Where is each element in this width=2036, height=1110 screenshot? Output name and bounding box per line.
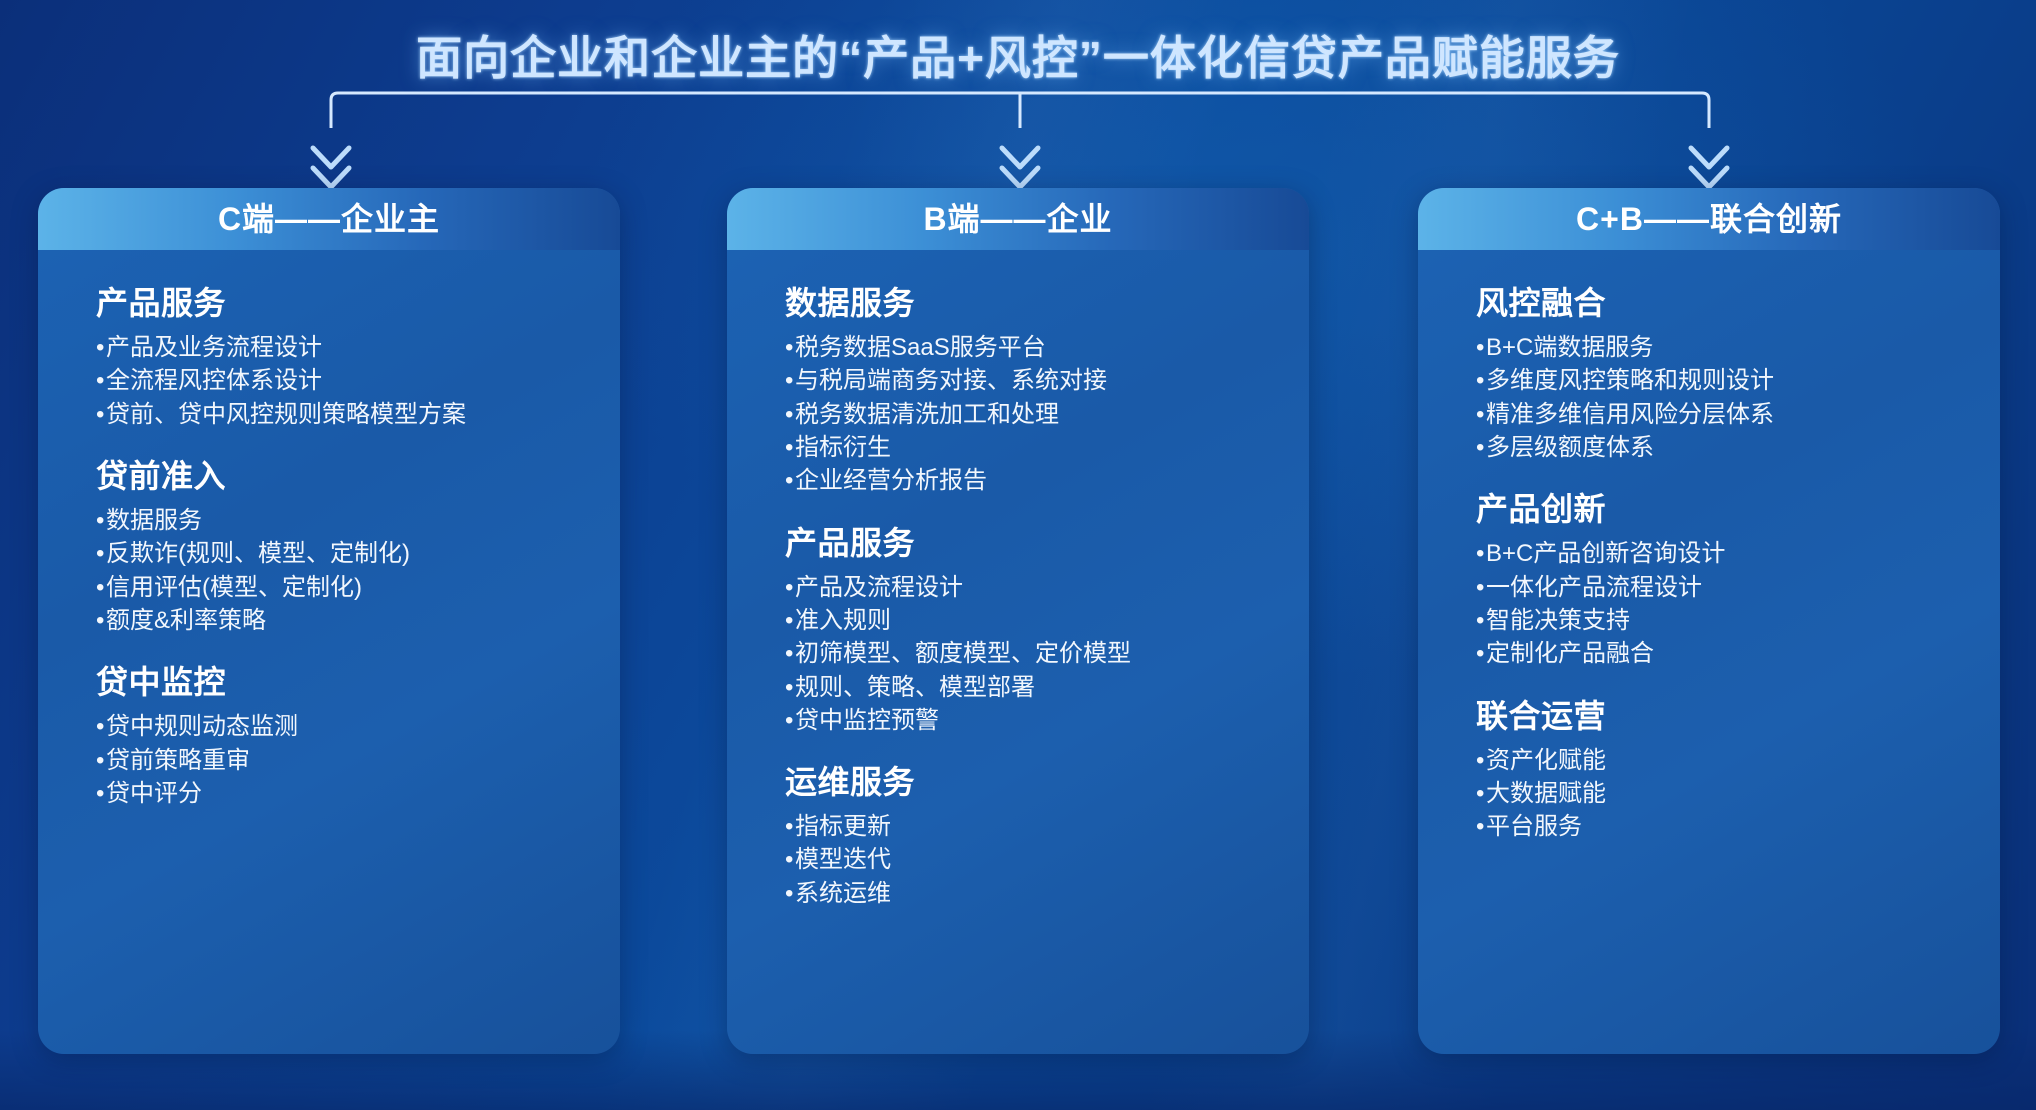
slide-canvas: 面向企业和企业主的“产品+风控”一体化信贷产品赋能服务 C端——企业主 (0, 0, 2036, 1110)
group-title: 贷中监控 (96, 657, 620, 703)
column-card-c-end[interactable]: C端——企业主 产品服务 •产品及业务流程设计 •全流程风控体系设计 •贷前、贷… (38, 188, 620, 1054)
list-item-label: 贷前、贷中风控规则策略模型方案 (106, 401, 466, 428)
list-item: •多维度风控策略和规则设计 (1476, 367, 2000, 395)
list-item: •B+C产品创新咨询设计 (1476, 540, 2000, 568)
list-item-label: 系统运维 (795, 880, 891, 907)
column-body-c-end: 产品服务 •产品及业务流程设计 •全流程风控体系设计 •贷前、贷中风控规则策略模… (38, 250, 620, 808)
group-title: 贷前准入 (96, 451, 620, 497)
group-block: 产品服务 •产品及流程设计 •准入规则 •初筛模型、额度模型、定价模型 •规则、… (785, 518, 1309, 736)
bullet-dot: • (785, 607, 795, 635)
list-item-label: 一体化产品流程设计 (1486, 574, 1702, 601)
group-title: 产品创新 (1476, 484, 2000, 530)
list-item: •税务数据SaaS服务平台 (785, 334, 1309, 362)
list-item-label: 税务数据清洗加工和处理 (795, 401, 1059, 428)
bullet-dot: • (1476, 367, 1486, 395)
bullet-dot: • (96, 334, 106, 362)
list-item-label: 信用评估(模型、定制化) (106, 574, 362, 601)
list-item: •系统运维 (785, 880, 1309, 908)
list-item-label: 定制化产品融合 (1486, 640, 1654, 667)
bullet-dot: • (96, 367, 106, 395)
list-item-label: 指标衍生 (795, 434, 891, 461)
columns-container: C端——企业主 产品服务 •产品及业务流程设计 •全流程风控体系设计 •贷前、贷… (0, 188, 2036, 1068)
bullet-dot: • (1476, 607, 1486, 635)
list-item: •贷前、贷中风控规则策略模型方案 (96, 401, 620, 429)
group-block: 贷中监控 •贷中规则动态监测 •贷前策略重审 •贷中评分 (96, 657, 620, 808)
bullet-dot: • (96, 747, 106, 775)
bullet-dot: • (785, 813, 795, 841)
list-item: •税务数据清洗加工和处理 (785, 401, 1309, 429)
list-item-label: 模型迭代 (795, 846, 891, 873)
list-item-label: 全流程风控体系设计 (106, 367, 322, 394)
group-title: 产品服务 (785, 518, 1309, 564)
bullet-dot: • (96, 607, 106, 635)
list-item-label: 贷前策略重审 (106, 747, 250, 774)
bullet-dot: • (785, 640, 795, 668)
group-block: 运维服务 •指标更新 •模型迭代 •系统运维 (785, 757, 1309, 908)
bullet-dot: • (96, 507, 106, 535)
list-item-label: 与税局端商务对接、系统对接 (795, 367, 1107, 394)
list-item-label: 初筛模型、额度模型、定价模型 (795, 640, 1131, 667)
column-body-b-end: 数据服务 •税务数据SaaS服务平台 •与税局端商务对接、系统对接 •税务数据清… (727, 250, 1309, 908)
column-header-c-end: C端——企业主 (38, 188, 620, 250)
bullet-dot: • (1476, 640, 1486, 668)
bullet-dot: • (785, 846, 795, 874)
list-item-label: 大数据赋能 (1486, 780, 1606, 807)
bullet-list: •指标更新 •模型迭代 •系统运维 (785, 813, 1309, 908)
group-title: 运维服务 (785, 757, 1309, 803)
bullet-list: •B+C端数据服务 •多维度风控策略和规则设计 •精准多维信用风险分层体系 •多… (1476, 334, 2000, 462)
bullet-dot: • (96, 780, 106, 808)
column-body-c-plus-b: 风控融合 •B+C端数据服务 •多维度风控策略和规则设计 •精准多维信用风险分层… (1418, 250, 2000, 841)
column-header-c-plus-b: C+B——联合创新 (1418, 188, 2000, 250)
list-item: •一体化产品流程设计 (1476, 574, 2000, 602)
bullet-list: •税务数据SaaS服务平台 •与税局端商务对接、系统对接 •税务数据清洗加工和处… (785, 334, 1309, 496)
list-item: •贷前策略重审 (96, 747, 620, 775)
list-item: •模型迭代 (785, 846, 1309, 874)
page-title: 面向企业和企业主的“产品+风控”一体化信贷产品赋能服务 (0, 22, 2036, 88)
list-item: •准入规则 (785, 607, 1309, 635)
list-item-label: 产品及业务流程设计 (106, 334, 322, 361)
list-item-label: 贷中监控预警 (795, 707, 939, 734)
list-item: •与税局端商务对接、系统对接 (785, 367, 1309, 395)
bullet-dot: • (785, 467, 795, 495)
bullet-dot: • (1476, 747, 1486, 775)
double-chevron-down-icon (313, 148, 349, 187)
bullet-dot: • (1476, 540, 1486, 568)
bullet-dot: • (96, 574, 106, 602)
list-item: •数据服务 (96, 507, 620, 535)
list-item-label: B+C产品创新咨询设计 (1486, 540, 1725, 567)
list-item: •反欺诈(规则、模型、定制化) (96, 540, 620, 568)
group-block: 风控融合 •B+C端数据服务 •多维度风控策略和规则设计 •精准多维信用风险分层… (1476, 278, 2000, 462)
list-item-label: 反欺诈(规则、模型、定制化) (106, 540, 410, 567)
column-card-c-plus-b[interactable]: C+B——联合创新 风控融合 •B+C端数据服务 •多维度风控策略和规则设计 •… (1418, 188, 2000, 1054)
list-item-label: 智能决策支持 (1486, 607, 1630, 634)
bullet-dot: • (785, 574, 795, 602)
list-item-label: 额度&利率策略 (106, 607, 266, 634)
list-item-label: 企业经营分析报告 (795, 467, 987, 494)
bullet-dot: • (96, 540, 106, 568)
list-item-label: B+C端数据服务 (1486, 334, 1653, 361)
bullet-dot: • (785, 401, 795, 429)
list-item-label: 资产化赋能 (1486, 747, 1606, 774)
bullet-dot: • (785, 674, 795, 702)
list-item: •贷中规则动态监测 (96, 713, 620, 741)
list-item: •全流程风控体系设计 (96, 367, 620, 395)
list-item: •额度&利率策略 (96, 607, 620, 635)
bullet-dot: • (1476, 334, 1486, 362)
list-item-label: 精准多维信用风险分层体系 (1486, 401, 1774, 428)
bullet-list: •资产化赋能 •大数据赋能 •平台服务 (1476, 747, 2000, 842)
bullet-dot: • (1476, 780, 1486, 808)
list-item-label: 规则、策略、模型部署 (795, 674, 1035, 701)
list-item-label: 准入规则 (795, 607, 891, 634)
bullet-dot: • (785, 880, 795, 908)
list-item-label: 贷中评分 (106, 780, 202, 807)
group-title: 风控融合 (1476, 278, 2000, 324)
bullet-dot: • (96, 401, 106, 429)
group-block: 数据服务 •税务数据SaaS服务平台 •与税局端商务对接、系统对接 •税务数据清… (785, 278, 1309, 496)
group-block: 产品服务 •产品及业务流程设计 •全流程风控体系设计 •贷前、贷中风控规则策略模… (96, 278, 620, 429)
bullet-dot: • (785, 434, 795, 462)
list-item: •定制化产品融合 (1476, 640, 2000, 668)
list-item: •产品及业务流程设计 (96, 334, 620, 362)
list-item: •B+C端数据服务 (1476, 334, 2000, 362)
group-title: 产品服务 (96, 278, 620, 324)
group-block: 产品创新 •B+C产品创新咨询设计 •一体化产品流程设计 •智能决策支持 •定制… (1476, 484, 2000, 668)
list-item: •规则、策略、模型部署 (785, 674, 1309, 702)
bullet-dot: • (1476, 401, 1486, 429)
list-item-label: 税务数据SaaS服务平台 (795, 334, 1046, 361)
list-item: •企业经营分析报告 (785, 467, 1309, 495)
list-item-label: 多维度风控策略和规则设计 (1486, 367, 1774, 394)
column-card-b-end[interactable]: B端——企业 数据服务 •税务数据SaaS服务平台 •与税局端商务对接、系统对接… (727, 188, 1309, 1054)
list-item-label: 贷中规则动态监测 (106, 713, 298, 740)
bullet-list: •数据服务 •反欺诈(规则、模型、定制化) •信用评估(模型、定制化) •额度&… (96, 507, 620, 635)
list-item: •大数据赋能 (1476, 780, 2000, 808)
bullet-list: •产品及流程设计 •准入规则 •初筛模型、额度模型、定价模型 •规则、策略、模型… (785, 574, 1309, 736)
bullet-dot: • (785, 367, 795, 395)
list-item: •智能决策支持 (1476, 607, 2000, 635)
list-item-label: 平台服务 (1486, 813, 1582, 840)
bullet-dot: • (1476, 574, 1486, 602)
double-chevron-down-icon (1691, 148, 1727, 187)
list-item-label: 数据服务 (106, 507, 202, 534)
list-item: •信用评估(模型、定制化) (96, 574, 620, 602)
list-item: •资产化赋能 (1476, 747, 2000, 775)
bullet-dot: • (785, 707, 795, 735)
double-chevron-down-icon (1002, 148, 1038, 187)
list-item: •初筛模型、额度模型、定价模型 (785, 640, 1309, 668)
group-block: 贷前准入 •数据服务 •反欺诈(规则、模型、定制化) •信用评估(模型、定制化)… (96, 451, 620, 635)
bullet-list: •贷中规则动态监测 •贷前策略重审 •贷中评分 (96, 713, 620, 808)
bullet-dot: • (1476, 434, 1486, 462)
list-item-label: 多层级额度体系 (1486, 434, 1654, 461)
bullet-dot: • (96, 713, 106, 741)
bullet-dot: • (1476, 813, 1486, 841)
group-title: 联合运营 (1476, 691, 2000, 737)
group-block: 联合运营 •资产化赋能 •大数据赋能 •平台服务 (1476, 691, 2000, 842)
list-item: •平台服务 (1476, 813, 2000, 841)
bullet-list: •产品及业务流程设计 •全流程风控体系设计 •贷前、贷中风控规则策略模型方案 (96, 334, 620, 429)
list-item: •贷中监控预警 (785, 707, 1309, 735)
list-item: •指标衍生 (785, 434, 1309, 462)
list-item: •多层级额度体系 (1476, 434, 2000, 462)
list-item: •指标更新 (785, 813, 1309, 841)
group-title: 数据服务 (785, 278, 1309, 324)
list-item: •产品及流程设计 (785, 574, 1309, 602)
bullet-dot: • (785, 334, 795, 362)
list-item-label: 产品及流程设计 (795, 574, 963, 601)
list-item: •贷中评分 (96, 780, 620, 808)
column-header-b-end: B端——企业 (727, 188, 1309, 250)
list-item: •精准多维信用风险分层体系 (1476, 401, 2000, 429)
bullet-list: •B+C产品创新咨询设计 •一体化产品流程设计 •智能决策支持 •定制化产品融合 (1476, 540, 2000, 668)
list-item-label: 指标更新 (795, 813, 891, 840)
